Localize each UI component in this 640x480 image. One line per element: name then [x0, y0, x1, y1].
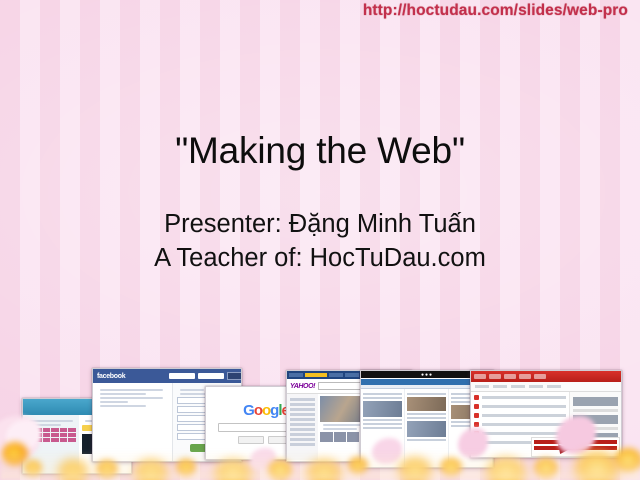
- facebook-login-button: [227, 372, 242, 380]
- news-column-2: [405, 389, 449, 467]
- website-screenshot-collage: facebook: [0, 350, 640, 480]
- slide-url-watermark: http://hoctudau.com/slides/web-pro: [363, 2, 628, 20]
- yahoo-left-nav: [287, 394, 318, 460]
- facebook-email-field: [169, 373, 195, 379]
- presenter-name-line: Presenter: Đặng Minh Tuấn: [0, 208, 640, 242]
- presenter-block: Presenter: Đặng Minh Tuấn A Teacher of: …: [0, 208, 640, 275]
- twitter-followers-grid: [26, 428, 76, 442]
- red-header-bar: [471, 371, 621, 382]
- page-title: "Making the Web": [0, 130, 640, 172]
- twitter-profile-column: [23, 415, 79, 473]
- facebook-intro-column: [93, 383, 172, 461]
- facebook-wordmark: facebook: [97, 373, 125, 380]
- presenter-role-line: A Teacher of: HocTuDau.com: [0, 242, 640, 276]
- presentation-slide: http://hoctudau.com/slides/web-pro "Maki…: [0, 0, 640, 480]
- facebook-password-field: [198, 373, 224, 379]
- yahoo-wordmark: YAHOO!: [290, 383, 315, 390]
- news-column-1: [361, 389, 405, 467]
- red-footer-panel: [531, 437, 620, 457]
- google-search-button: [238, 436, 264, 444]
- red-tab-strip: [471, 382, 621, 392]
- screenshot-red-portal: [470, 370, 622, 458]
- google-logo: Google: [243, 402, 289, 419]
- facebook-header-bar: facebook: [93, 369, 242, 383]
